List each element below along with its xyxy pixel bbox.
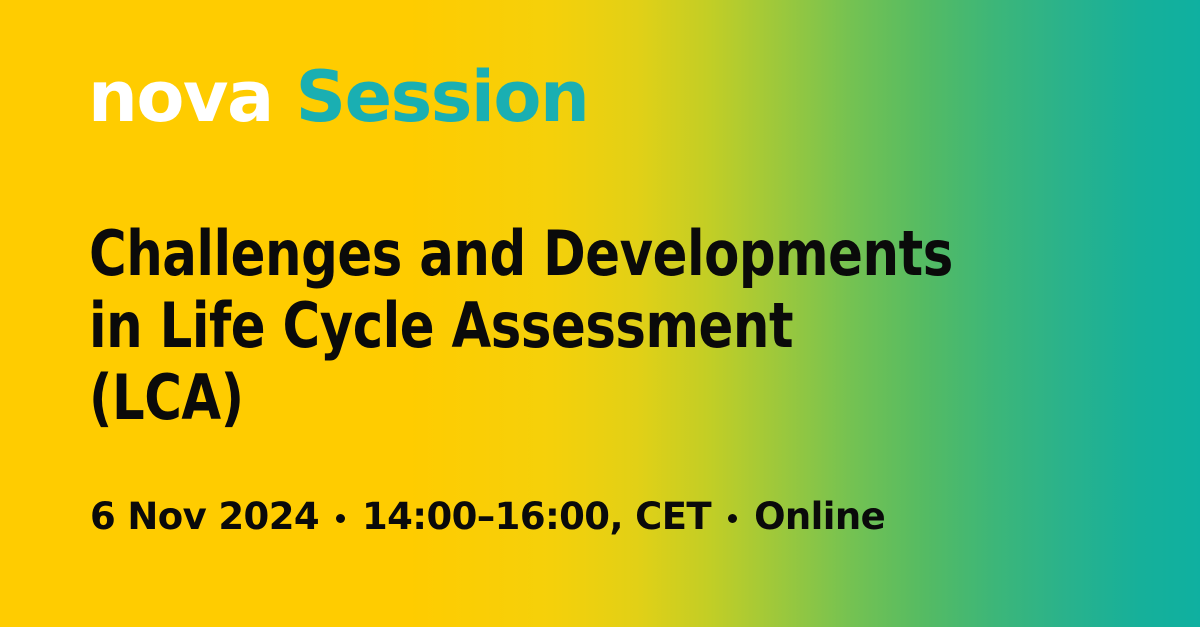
nova-session-logo: nova Session: [88, 62, 588, 132]
event-banner: nova Session Challenges and Developments…: [0, 0, 1200, 627]
logo-product-session: Session: [296, 56, 589, 138]
bullet-separator-icon: [728, 514, 737, 523]
event-title-line-3: (LCA): [89, 362, 1027, 434]
event-meta: 6 Nov 2024 14:00–16:00, CET Online: [90, 494, 885, 540]
event-date: 6 Nov 2024: [90, 494, 319, 540]
event-format: Online: [754, 494, 885, 540]
logo-brand-nova: nova: [88, 56, 296, 138]
event-title-line-1: Challenges and Developments: [89, 218, 1027, 290]
bullet-separator-icon: [336, 514, 345, 523]
event-title-line-2: in Life Cycle Assessment: [89, 290, 1027, 362]
event-time: 14:00–16:00, CET: [362, 494, 711, 540]
event-title: Challenges and Developments in Life Cycl…: [89, 218, 1027, 434]
